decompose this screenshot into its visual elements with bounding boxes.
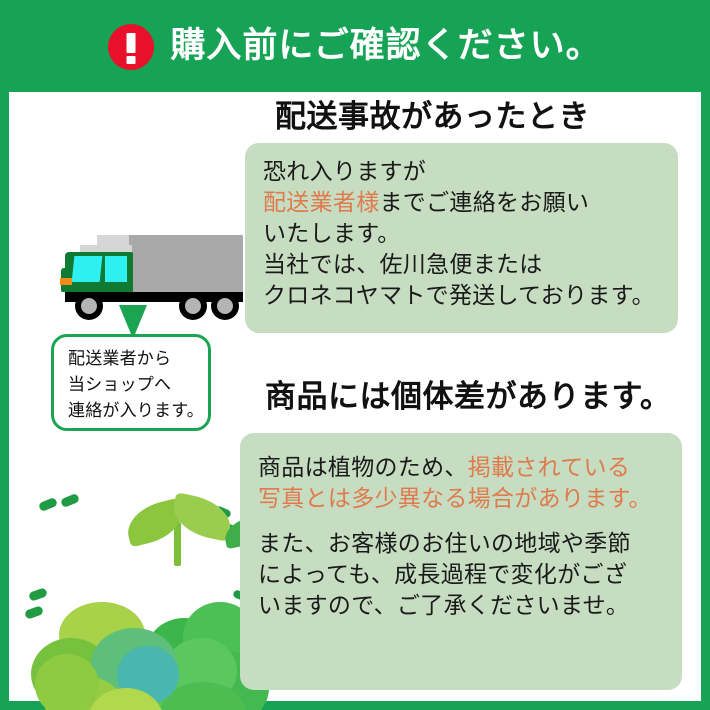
tree-canopy-blob bbox=[35, 654, 99, 710]
alert-exclamation-icon bbox=[108, 24, 154, 70]
truck-headlight-icon bbox=[60, 278, 72, 285]
section-2-info-box: 商品は植物のため、掲載されている 写真とは多少異なる場合があります。 また、お客… bbox=[240, 433, 682, 690]
info-text: 恐れ入りますが bbox=[263, 159, 426, 185]
truck-wheel bbox=[179, 292, 207, 320]
sprout-icon bbox=[124, 494, 234, 564]
speech-bubble: 配送業者から 当ショップへ 連絡が入ります。 bbox=[51, 334, 211, 431]
info-line: また、お客様のお住いの地域や季節 bbox=[258, 529, 682, 560]
info-text: までご連絡をお願い bbox=[380, 190, 590, 216]
speech-bubble-line: 連絡が入ります。 bbox=[68, 398, 208, 424]
truck-wheel bbox=[211, 292, 239, 320]
header-bar: 購入前にご確認ください。 bbox=[0, 0, 710, 92]
truck-wheel-hub bbox=[185, 298, 201, 314]
paragraph-spacer bbox=[258, 515, 682, 529]
truck-window-front bbox=[72, 256, 103, 282]
info-text: いますので、ご了承くださいませ。 bbox=[258, 593, 629, 619]
truck-cargo-box bbox=[129, 235, 243, 292]
tree-icon bbox=[31, 602, 201, 710]
info-text: クロネコヤマトで発送しております。 bbox=[263, 283, 655, 309]
info-text: 商品は植物のため、 bbox=[258, 455, 468, 481]
info-line: 当社では、佐川急便または bbox=[263, 250, 678, 281]
info-line: 商品は植物のため、掲載されている bbox=[258, 453, 682, 484]
truck-wheel-hub bbox=[81, 298, 97, 314]
sparkle-dash-icon bbox=[28, 587, 48, 602]
info-line: 配送業者様までご連絡をお願い bbox=[263, 188, 678, 219]
info-text-highlight: 配送業者様 bbox=[263, 190, 380, 216]
exclamation-dot bbox=[127, 56, 136, 64]
info-line: 写真とは多少異なる場合があります。 bbox=[258, 484, 682, 515]
trees-and-sprouts-illustration bbox=[19, 474, 259, 710]
section-1-heading: 配送事故があったとき bbox=[275, 102, 590, 133]
sparkle-dash-icon bbox=[60, 493, 80, 508]
speech-bubble-line: 当ショップへ bbox=[68, 372, 208, 398]
promo-notice-banner: 購入前にご確認ください。 配送事故があったとき bbox=[0, 0, 710, 710]
sprout-stem bbox=[174, 522, 181, 566]
info-line: いたします。 bbox=[263, 219, 678, 250]
info-text-highlight: 掲載されている bbox=[468, 455, 630, 481]
truck-wheel bbox=[75, 292, 103, 320]
truck-wheel-hub bbox=[217, 298, 233, 314]
info-text: いたします。 bbox=[263, 221, 401, 247]
header-content: 購入前にご確認ください。 bbox=[0, 0, 710, 92]
info-text: によっても、成長過程で変化がござ bbox=[258, 562, 627, 588]
section-1-info-box: 恐れ入りますが 配送業者様までご連絡をお願い いたします。 当社では、佐川急便ま… bbox=[245, 143, 678, 333]
truck-window-rear bbox=[105, 256, 127, 282]
speech-bubble-line: 配送業者から bbox=[68, 346, 208, 372]
sparkle-dash-icon bbox=[38, 497, 58, 512]
info-line: によっても、成長過程で変化がござ bbox=[258, 560, 682, 591]
content-panel: 配送事故があったとき 配送業者から 当ショップへ bbox=[9, 92, 701, 701]
info-text-highlight: 写真とは多少異なる場合があります。 bbox=[258, 486, 652, 512]
info-line: いますので、ご了承くださいませ。 bbox=[258, 591, 682, 622]
section-2-heading: 商品には個体差があります。 bbox=[265, 382, 671, 413]
info-line: 恐れ入りますが bbox=[263, 157, 678, 188]
info-line: クロネコヤマトで発送しております。 bbox=[263, 281, 678, 312]
delivery-truck-icon bbox=[53, 232, 243, 324]
exclamation-stem bbox=[127, 33, 136, 53]
info-text: また、お客様のお住いの地域や季節 bbox=[258, 531, 631, 557]
info-text: 当社では、佐川急便または bbox=[263, 252, 543, 278]
page-title: 購入前にご確認ください。 bbox=[170, 29, 601, 64]
